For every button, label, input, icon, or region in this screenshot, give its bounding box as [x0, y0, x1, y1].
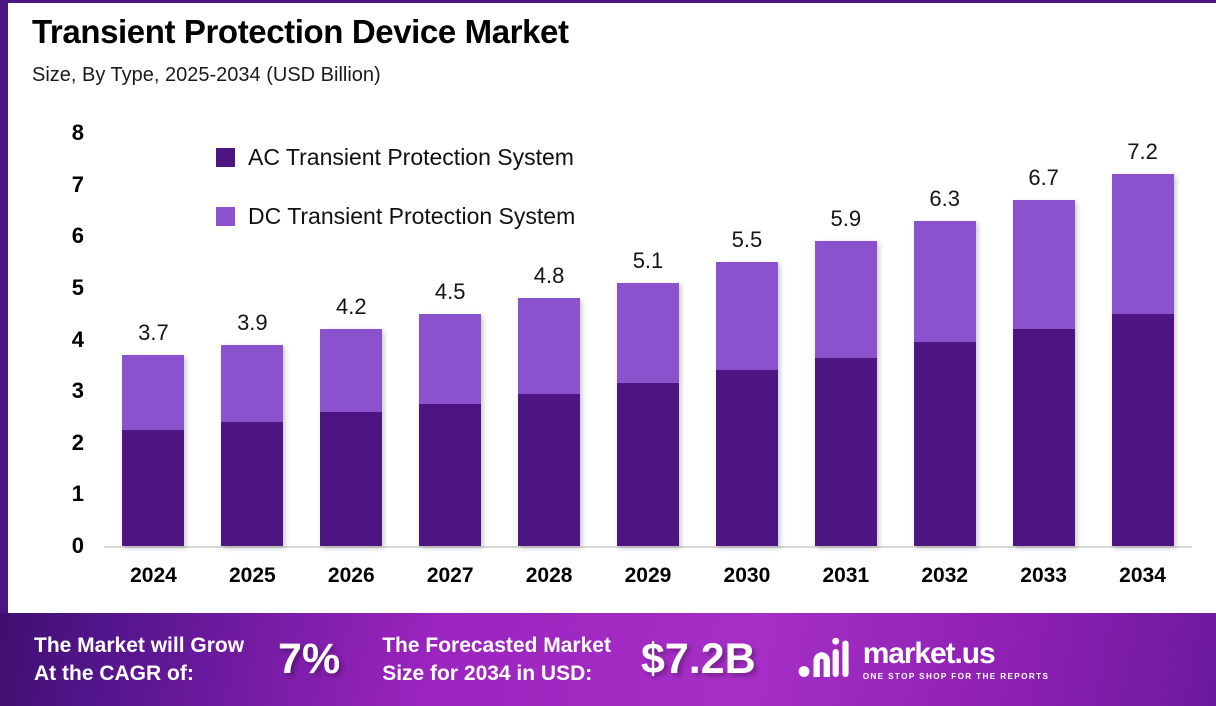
bar-segment-dc[interactable] [914, 221, 976, 342]
bar-value-label: 4.5 [435, 279, 466, 305]
bar-value-label: 7.2 [1127, 139, 1158, 165]
bar-value-label: 5.1 [633, 248, 664, 274]
legend-swatch-ac [216, 148, 235, 167]
bar-group[interactable]: 5.52030 [697, 133, 796, 546]
logo-wordmark: market.us [863, 639, 1050, 669]
footer-banner: The Market will Grow At the CAGR of: 7% … [0, 613, 1216, 706]
bar-group[interactable]: 7.22034 [1093, 133, 1192, 546]
x-tick-label: 2028 [526, 564, 573, 588]
x-tick-label: 2027 [427, 564, 474, 588]
cagr-label: The Market will Grow At the CAGR of: [34, 632, 244, 687]
legend-item-ac[interactable]: AC Transient Protection System [216, 141, 575, 173]
bar-segment-ac[interactable] [419, 404, 481, 546]
y-tick-label: 4 [54, 327, 84, 353]
y-tick-label: 1 [54, 481, 84, 507]
market-us-logo-icon [798, 636, 852, 683]
bar-segment-dc[interactable] [122, 355, 184, 430]
bar-value-label: 3.7 [138, 320, 169, 346]
legend-label-ac: AC Transient Protection System [248, 144, 574, 171]
bar-value-label: 4.8 [534, 263, 565, 289]
y-tick-label: 3 [54, 378, 84, 404]
bar-segment-ac[interactable] [122, 430, 184, 546]
bar-segment-ac[interactable] [716, 370, 778, 546]
bar-segment-ac[interactable] [1112, 314, 1174, 546]
bar-segment-dc[interactable] [1112, 174, 1174, 313]
stacked-bar[interactable] [815, 241, 877, 546]
logo-text: market.us ONE STOP SHOP FOR THE REPORTS [863, 639, 1050, 681]
cagr-label-line2: At the CAGR of: [34, 660, 244, 688]
x-tick-label: 2029 [625, 564, 672, 588]
bar-segment-dc[interactable] [320, 329, 382, 412]
x-tick-label: 2026 [328, 564, 375, 588]
bar-value-label: 6.7 [1028, 165, 1059, 191]
bar-group[interactable]: 6.72033 [994, 133, 1093, 546]
bar-segment-dc[interactable] [419, 314, 481, 404]
stacked-bar[interactable] [122, 355, 184, 546]
y-tick-label: 0 [54, 533, 84, 559]
legend-item-dc[interactable]: DC Transient Protection System [216, 200, 575, 232]
bar-group[interactable]: 5.92031 [796, 133, 895, 546]
stacked-bar[interactable] [320, 329, 382, 546]
x-tick-label: 2030 [724, 564, 771, 588]
bar-segment-ac[interactable] [617, 383, 679, 546]
forecast-size-value: $7.2B [641, 635, 756, 684]
bar-segment-ac[interactable] [518, 394, 580, 546]
y-tick-label: 5 [54, 275, 84, 301]
y-tick-label: 6 [54, 223, 84, 249]
chart-infographic: Transient Protection Device Market Size,… [0, 0, 1216, 706]
bar-value-label: 5.9 [831, 206, 862, 232]
bar-segment-dc[interactable] [221, 345, 283, 422]
bar-segment-ac[interactable] [221, 422, 283, 546]
y-tick-label: 2 [54, 430, 84, 456]
cagr-label-line1: The Market will Grow [34, 632, 244, 660]
bar-value-label: 3.9 [237, 310, 268, 336]
stacked-bar[interactable] [518, 298, 580, 546]
logo-tagline: ONE STOP SHOP FOR THE REPORTS [863, 672, 1050, 681]
forecast-size-label: The Forecasted Market Size for 2034 in U… [382, 632, 611, 687]
y-tick-label: 8 [54, 120, 84, 146]
stacked-bar[interactable] [716, 262, 778, 546]
legend-label-dc: DC Transient Protection System [248, 203, 575, 230]
cagr-value: 7% [278, 635, 340, 684]
x-tick-label: 2033 [1020, 564, 1067, 588]
bar-value-label: 5.5 [732, 227, 763, 253]
bar-segment-dc[interactable] [617, 283, 679, 384]
stacked-bar[interactable] [419, 314, 481, 546]
bar-segment-ac[interactable] [320, 412, 382, 546]
y-tick-label: 7 [54, 172, 84, 198]
bar-segment-dc[interactable] [518, 298, 580, 394]
bar-segment-ac[interactable] [815, 358, 877, 546]
stacked-bar[interactable] [221, 345, 283, 546]
bar-value-label: 6.3 [929, 186, 960, 212]
page-title: Transient Protection Device Market [32, 13, 569, 51]
x-tick-label: 2034 [1119, 564, 1166, 588]
bar-value-label: 4.2 [336, 294, 367, 320]
stacked-bar[interactable] [1112, 174, 1174, 546]
bar-segment-dc[interactable] [1013, 200, 1075, 329]
x-tick-label: 2025 [229, 564, 276, 588]
header: Transient Protection Device Market Size,… [32, 13, 569, 87]
chart-legend: AC Transient Protection SystemDC Transie… [216, 141, 575, 259]
bar-segment-ac[interactable] [914, 342, 976, 546]
x-tick-label: 2024 [130, 564, 177, 588]
axis-baseline [104, 546, 1192, 548]
x-tick-label: 2031 [822, 564, 869, 588]
bar-segment-ac[interactable] [1013, 329, 1075, 546]
bar-group[interactable]: 5.12029 [599, 133, 698, 546]
bar-segment-dc[interactable] [716, 262, 778, 370]
page-subtitle: Size, By Type, 2025-2034 (USD Billion) [32, 64, 569, 87]
forecast-size-label-line2: Size for 2034 in USD: [382, 660, 611, 688]
stacked-bar[interactable] [1013, 200, 1075, 546]
stacked-bar[interactable] [617, 283, 679, 546]
bar-segment-dc[interactable] [815, 241, 877, 357]
forecast-size-label-line1: The Forecasted Market [382, 632, 611, 660]
bar-group[interactable]: 3.72024 [104, 133, 203, 546]
brand-logo[interactable]: market.us ONE STOP SHOP FOR THE REPORTS [798, 636, 1050, 683]
x-tick-label: 2032 [921, 564, 968, 588]
legend-swatch-dc [216, 207, 235, 226]
bar-group[interactable]: 6.32032 [895, 133, 994, 546]
stacked-bar[interactable] [914, 221, 976, 546]
